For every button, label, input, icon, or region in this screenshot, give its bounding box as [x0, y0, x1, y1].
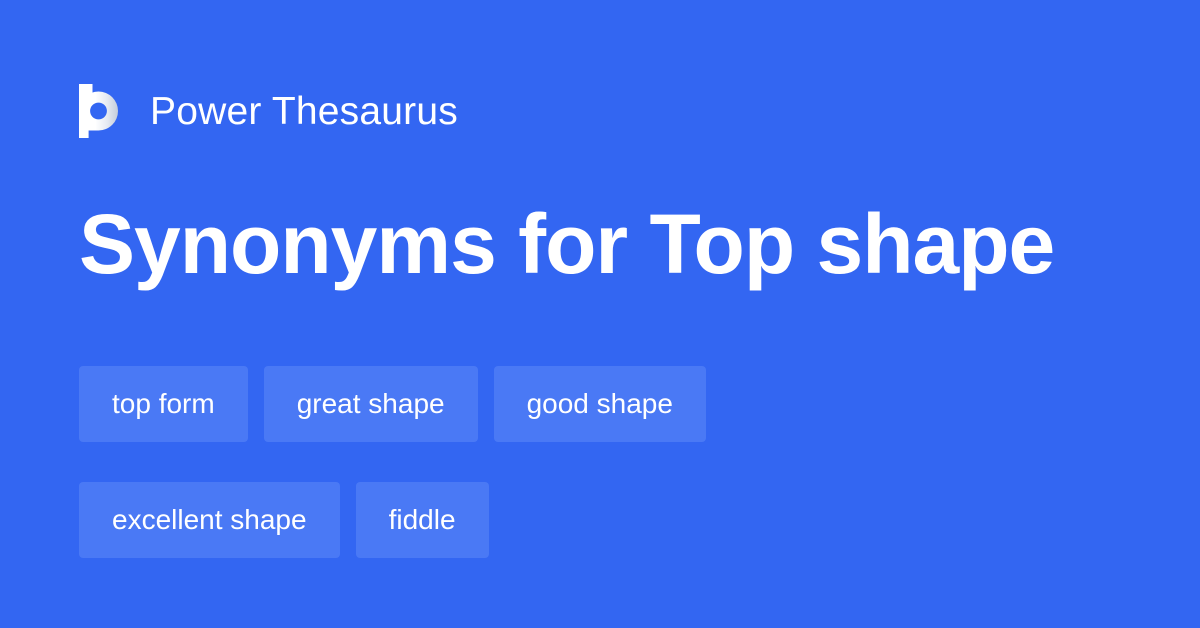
power-thesaurus-b-logo-icon	[79, 84, 125, 138]
synonym-chip[interactable]: top form	[79, 366, 248, 442]
og-card: Power Thesaurus Synonyms for Top shape t…	[0, 0, 1200, 628]
brand-header[interactable]: Power Thesaurus	[79, 80, 458, 142]
synonym-chip[interactable]: good shape	[494, 366, 706, 442]
synonym-chip-list: top form great shape good shape excellen…	[79, 366, 1129, 558]
synonym-chip[interactable]: excellent shape	[79, 482, 340, 558]
page-title: Synonyms for Top shape	[79, 196, 1054, 292]
synonym-chip[interactable]: fiddle	[356, 482, 489, 558]
brand-name: Power Thesaurus	[150, 92, 458, 131]
synonym-chip[interactable]: great shape	[264, 366, 478, 442]
